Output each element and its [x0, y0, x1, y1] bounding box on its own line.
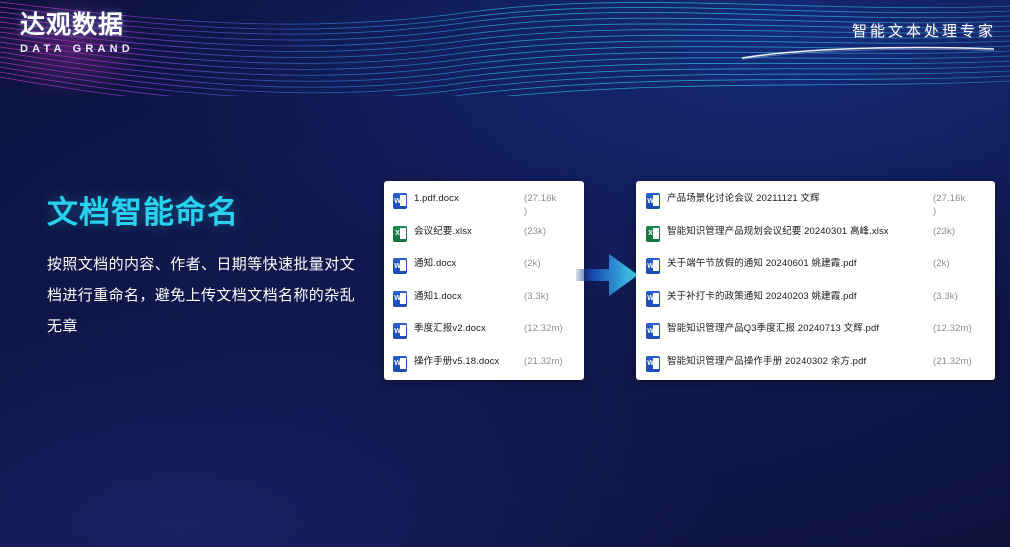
file-name: 产品场景化讨论会议 20211121 文辉	[660, 190, 925, 205]
file-name: 关于端午节放假的通知 20240601 姚建霞.pdf	[660, 255, 925, 270]
word-file-icon: W	[646, 258, 660, 274]
file-row[interactable]: W智能知识管理产品Q3季度汇报 20240713 文辉.pdf(12.32m)	[636, 320, 995, 353]
excel-file-icon: X	[393, 226, 407, 242]
file-row[interactable]: W操作手册v5.18.docx(21.32m)	[384, 353, 584, 386]
file-size: (23k)	[524, 223, 584, 238]
file-size: (27.16k )	[524, 190, 584, 218]
file-name: 1.pdf.docx	[407, 190, 518, 205]
file-size: (21.32m)	[933, 353, 995, 368]
word-file-icon: W	[646, 356, 660, 372]
file-name: 关于补打卡的政策通知 20240203 姚建霞.pdf	[660, 288, 925, 303]
file-name: 季度汇报v2.docx	[407, 320, 518, 335]
file-size: (27.16k )	[933, 190, 995, 218]
file-row[interactable]: W关于端午节放假的通知 20240601 姚建霞.pdf(2k)	[636, 255, 995, 288]
tagline-text: 智能文本处理专家	[740, 20, 996, 41]
file-name: 会议纪要.xlsx	[407, 223, 518, 238]
file-row[interactable]: X智能知识管理产品规划会议纪要 20240301 高峰.xlsx(23k)	[636, 223, 995, 256]
file-row[interactable]: W通知1.docx(3.3k)	[384, 288, 584, 321]
file-row[interactable]: W季度汇报v2.docx(12.32m)	[384, 320, 584, 353]
right-arrow-icon	[576, 251, 638, 299]
word-file-icon: W	[393, 323, 407, 339]
file-name: 智能知识管理产品Q3季度汇报 20240713 文辉.pdf	[660, 320, 925, 335]
page-description: 按照文档的内容、作者、日期等快速批量对文档进行重命名，避免上传文档文档名称的杂乱…	[47, 249, 357, 342]
brand-logo: 达观数据 DATA GRAND	[20, 12, 134, 57]
file-name: 智能知识管理产品规划会议纪要 20240301 高峰.xlsx	[660, 223, 925, 238]
page-title: 文档智能命名	[47, 193, 357, 233]
logo-english-text: DATA GRAND	[20, 41, 134, 57]
word-file-icon: W	[393, 356, 407, 372]
logo-chinese-text: 达观数据	[20, 12, 134, 39]
file-size: (23k)	[933, 223, 995, 238]
file-name: 操作手册v5.18.docx	[407, 353, 518, 368]
file-name: 通知1.docx	[407, 288, 518, 303]
file-size: (3.3k)	[933, 288, 995, 303]
file-row[interactable]: W通知.docx(2k)	[384, 255, 584, 288]
tagline-block: 智能文本处理专家	[740, 20, 996, 65]
headline-block: 文档智能命名 按照文档的内容、作者、日期等快速批量对文档进行重命名，避免上传文档…	[47, 193, 357, 342]
file-row[interactable]: X会议纪要.xlsx(23k)	[384, 223, 584, 256]
file-row[interactable]: W1.pdf.docx(27.16k )	[384, 190, 584, 223]
slide-root: 达观数据 DATA GRAND 智能文本处理专家 文档智能命名 按照文档的内容、…	[0, 0, 1010, 547]
original-file-list-panel: W1.pdf.docx(27.16k )X会议纪要.xlsx(23k)W通知.d…	[384, 181, 584, 380]
file-size: (21.32m)	[524, 353, 584, 368]
word-file-icon: W	[393, 291, 407, 307]
file-size: (12.32m)	[524, 320, 584, 335]
word-file-icon: W	[646, 193, 660, 209]
renamed-file-list-panel: W产品场景化讨论会议 20211121 文辉(27.16k )X智能知识管理产品…	[636, 181, 995, 380]
file-size: (2k)	[933, 255, 995, 270]
excel-file-icon: X	[646, 226, 660, 242]
word-file-icon: W	[646, 323, 660, 339]
word-file-icon: W	[393, 258, 407, 274]
file-name: 智能知识管理产品操作手册 20240302 余方.pdf	[660, 353, 925, 368]
file-size: (2k)	[524, 255, 584, 270]
file-size: (3.3k)	[524, 288, 584, 303]
word-file-icon: W	[646, 291, 660, 307]
file-row[interactable]: W智能知识管理产品操作手册 20240302 余方.pdf(21.32m)	[636, 353, 995, 386]
word-file-icon: W	[393, 193, 407, 209]
file-size: (12.32m)	[933, 320, 995, 335]
file-row[interactable]: W产品场景化讨论会议 20211121 文辉(27.16k )	[636, 190, 995, 223]
file-row[interactable]: W关于补打卡的政策通知 20240203 姚建霞.pdf(3.3k)	[636, 288, 995, 321]
file-name: 通知.docx	[407, 255, 518, 270]
tagline-underline-arc	[740, 46, 996, 60]
